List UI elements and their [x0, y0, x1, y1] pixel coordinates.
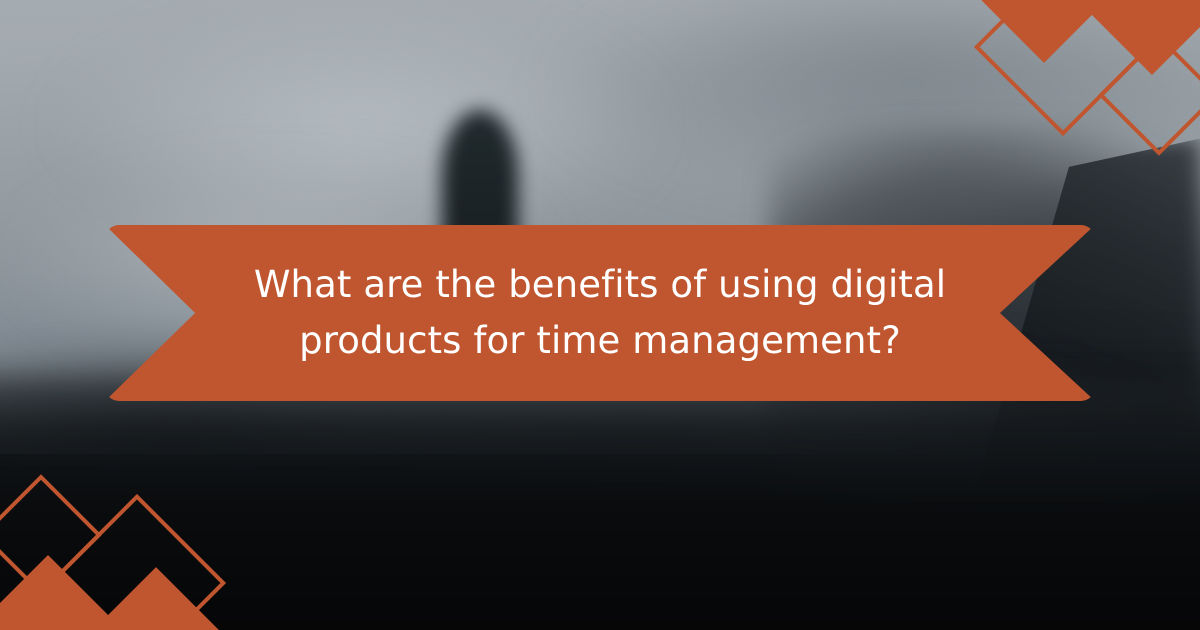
ground-layer	[0, 365, 1200, 630]
question-line-2: products for time management?	[299, 316, 901, 366]
banner-text-block: What are the benefits of using digital p…	[105, 225, 1095, 401]
question-line-1: What are the benefits of using digital	[254, 260, 946, 310]
question-banner: What are the benefits of using digital p…	[105, 225, 1095, 401]
social-card-canvas: What are the benefits of using digital p…	[0, 0, 1200, 630]
